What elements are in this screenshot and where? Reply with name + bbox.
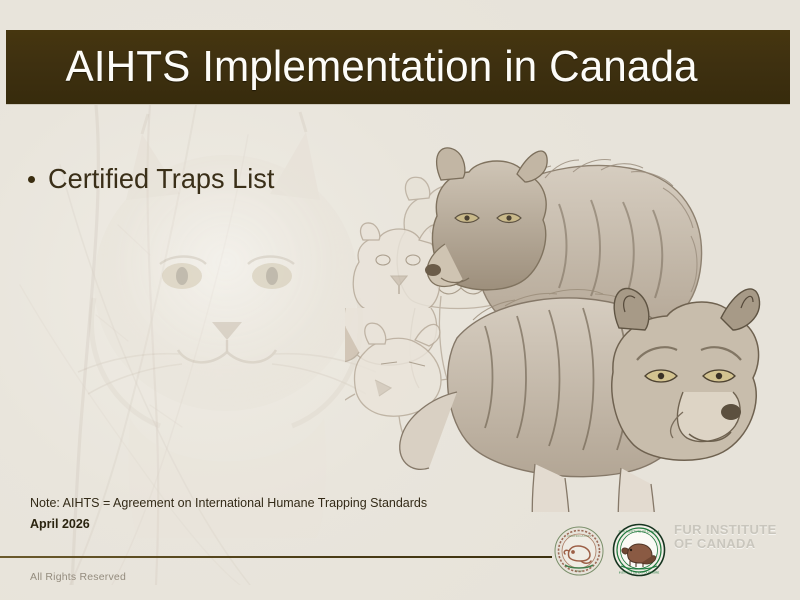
slide-title-banner: AIHTS Implementation in Canada (6, 30, 790, 104)
wordmark-line-1: FUR INSTITUTE (674, 523, 784, 537)
wordmark-line-2: OF CANADA (674, 537, 784, 551)
bullet-item-label: Certified Traps List (48, 165, 274, 193)
svg-text:CERTIFICATION: CERTIFICATION (567, 534, 590, 538)
bullet-dot-icon (28, 176, 35, 183)
footnote-text: Note: AIHTS = Agreement on International… (30, 497, 427, 511)
svg-text:TRAP: TRAP (575, 569, 583, 573)
rights-text: All Rights Reserved (30, 571, 126, 583)
fur-institute-wordmark: FUR INSTITUTE OF CANADA (674, 523, 784, 557)
certification-seal-icon: CERTIFICATION TRAP (553, 525, 605, 577)
svg-text:INSTITUT DE LA FOURRURE: INSTITUT DE LA FOURRURE (619, 571, 660, 575)
svg-text:FUR INSTITUTE OF CANADA: FUR INSTITUTE OF CANADA (619, 530, 660, 534)
page-title: AIHTS Implementation in Canada (6, 45, 698, 89)
presentation-slide: AIHTS Implementation in Canada Certified… (0, 0, 800, 600)
fur-institute-seal-icon: FUR INSTITUTE OF CANADA INSTITUT DE LA F… (612, 523, 666, 577)
footer-divider (0, 556, 552, 558)
footnote-date: April 2026 (30, 518, 90, 532)
furbearing-animals-sketch (345, 112, 765, 512)
bullet-list-item: Certified Traps List (28, 165, 281, 193)
